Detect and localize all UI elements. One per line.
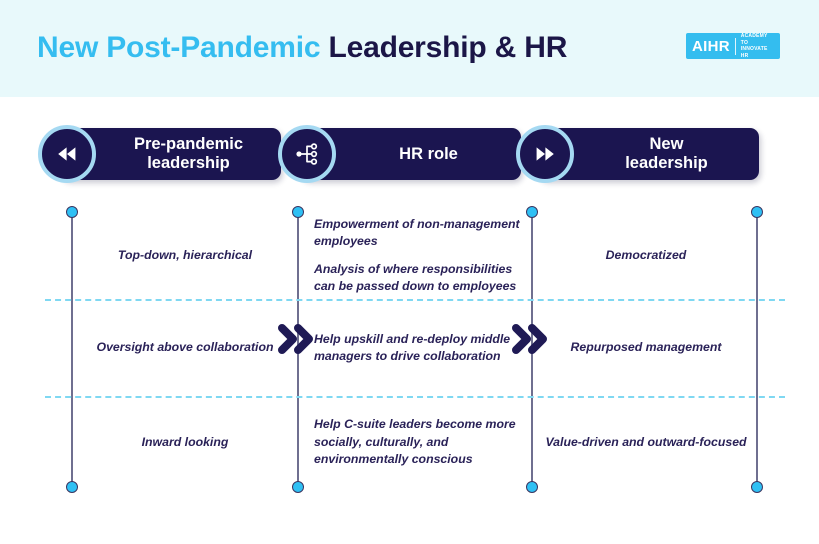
cell-text: Repurposed management (570, 339, 721, 357)
cell-text: Top-down, hierarchical (118, 247, 252, 265)
cell-pre-pandemic-row-2: Oversight above collaboration (78, 301, 292, 395)
timeline-rail (71, 212, 73, 487)
page-header: New Post-Pandemic Leadership & HR AIHR A… (0, 0, 819, 97)
logo-tagline: ACADEMY TO INNOVATE HR (741, 33, 774, 59)
cell-text: Oversight above collaboration (97, 339, 274, 357)
timeline-rail (756, 212, 758, 487)
logo-wordmark: AIHR (692, 39, 730, 54)
cell-text: Inward looking (142, 434, 229, 452)
cell-text: Value-driven and outward-focused (545, 434, 746, 452)
double-chevron-right-icon (512, 324, 549, 354)
double-chevron-right-icon (278, 324, 315, 354)
timeline-dot-bottom (526, 481, 538, 493)
timeline-dot-top (526, 206, 538, 218)
fast-forward-icon (516, 125, 574, 183)
org-network-icon (278, 125, 336, 183)
column-header-new-leadership[interactable]: New leadership (538, 128, 759, 180)
page-title: New Post-Pandemic Leadership & HR (37, 28, 567, 68)
cell-hr-role-row-3: Help C-suite leaders become more sociall… (314, 398, 522, 487)
column-header-label: New leadership (584, 128, 749, 180)
aihr-logo: AIHR ACADEMY TO INNOVATE HR (686, 33, 780, 59)
cell-pre-pandemic-row-3: Inward looking (78, 398, 292, 487)
rewind-icon (38, 125, 96, 183)
timeline-dot-bottom (66, 481, 78, 493)
logo-divider (735, 38, 736, 55)
page-title-accent: New Post-Pandemic (37, 31, 320, 64)
cell-pre-pandemic-row-1: Top-down, hierarchical (78, 212, 292, 299)
cell-text: Help upskill and re-deploy middle manage… (314, 331, 522, 366)
cell-new-leadership-row-2: Repurposed management (540, 301, 752, 395)
cell-text: Empowerment of non-management employees (314, 216, 522, 251)
timeline-dot-top (66, 206, 78, 218)
timeline-dot-bottom (751, 481, 763, 493)
column-header-hr-role[interactable]: HR role (300, 128, 521, 180)
cell-hr-role-row-2: Help upskill and re-deploy middle manage… (314, 301, 522, 395)
cell-hr-role-row-1: Empowerment of non-management employees … (314, 212, 522, 299)
timeline-dot-top (292, 206, 304, 218)
column-header-pre-pandemic-leadership[interactable]: Pre-pandemic leadership (60, 128, 281, 180)
cell-text: Analysis of where responsibilities can b… (314, 261, 522, 296)
cell-text: Democratized (606, 247, 687, 265)
cell-new-leadership-row-3: Value-driven and outward-focused (540, 398, 752, 487)
column-header-label: HR role (346, 128, 511, 180)
cell-text: Help C-suite leaders become more sociall… (314, 416, 522, 469)
timeline-dot-top (751, 206, 763, 218)
column-header-label: Pre-pandemic leadership (106, 128, 271, 180)
page-title-main: Leadership & HR (320, 31, 567, 64)
timeline-dot-bottom (292, 481, 304, 493)
cell-new-leadership-row-1: Democratized (540, 212, 752, 299)
